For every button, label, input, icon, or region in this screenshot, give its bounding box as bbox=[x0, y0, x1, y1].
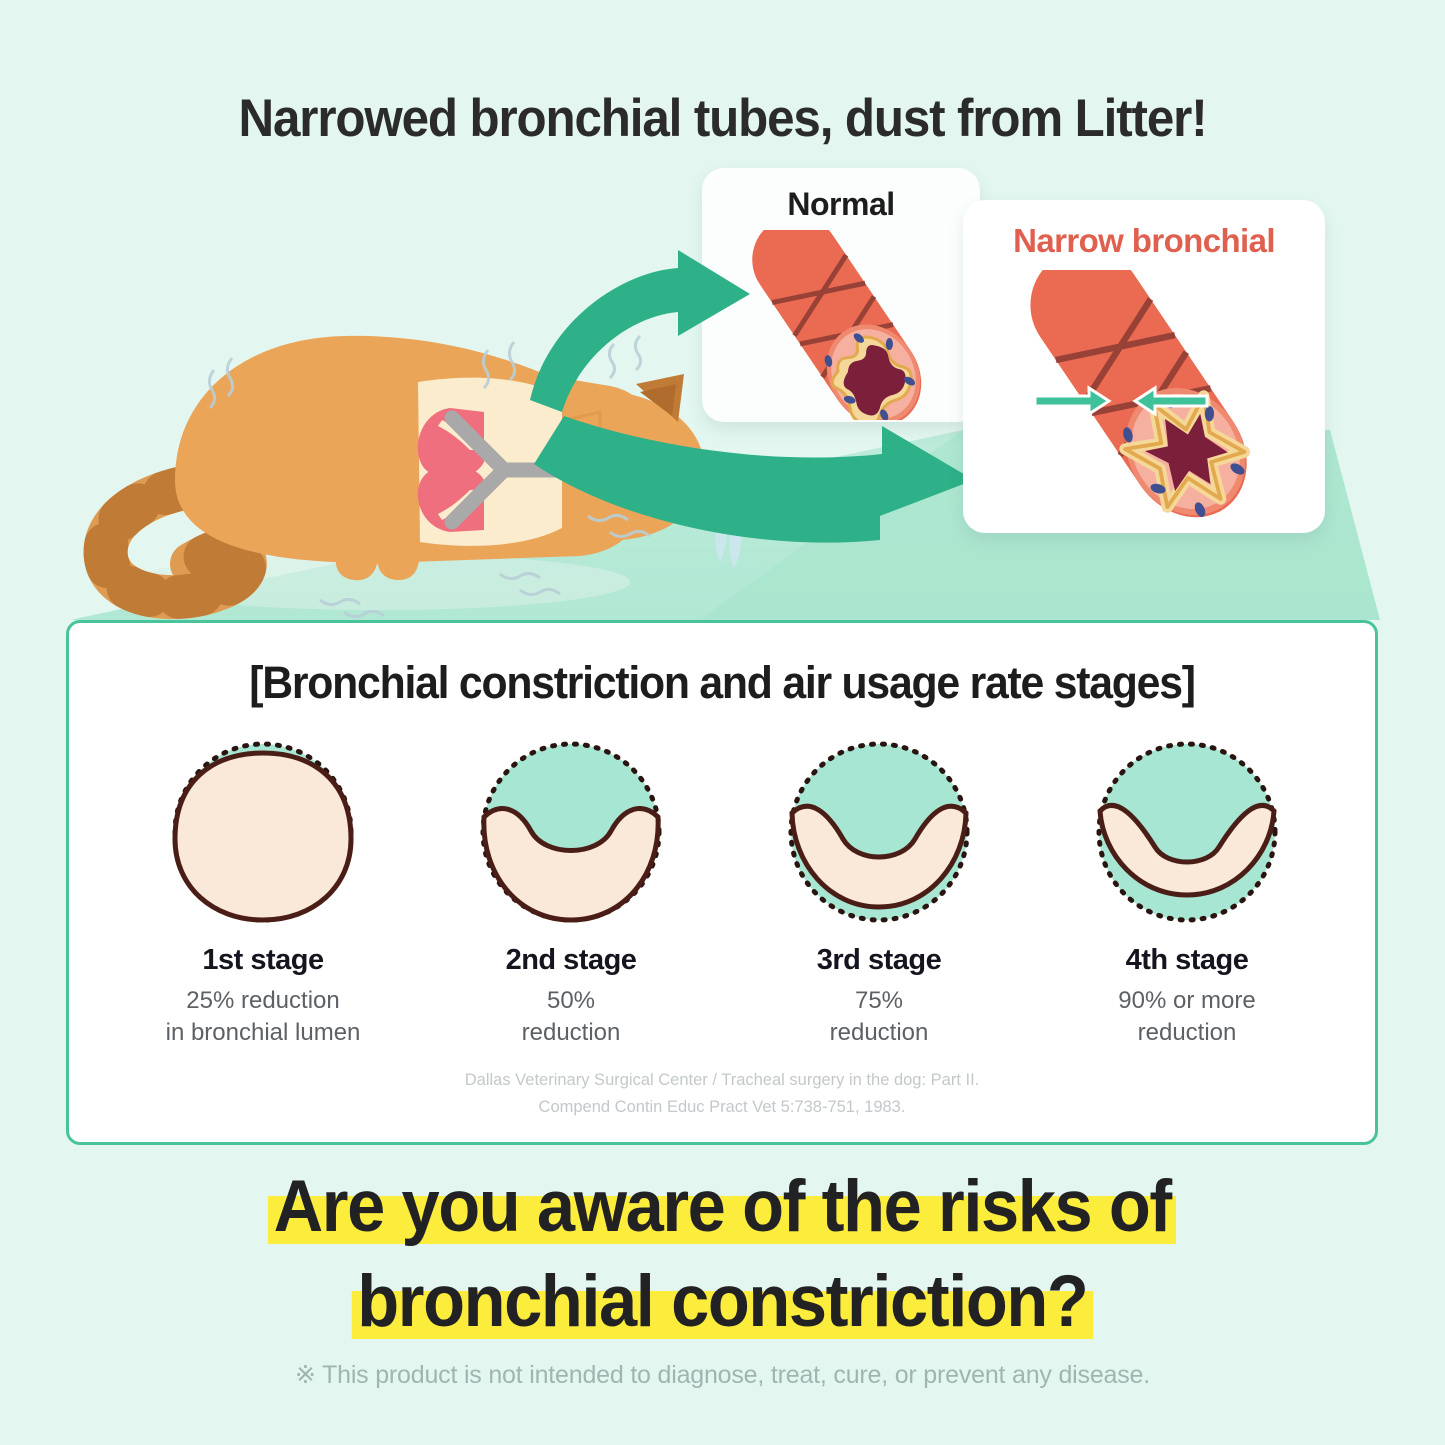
stage-1-figure-icon bbox=[163, 735, 363, 930]
stage-item: 4th stage 90% or more reduction bbox=[1033, 735, 1341, 1055]
stage-3-figure-icon bbox=[779, 735, 979, 930]
citation-text: Dallas Veterinary Surgical Center / Trac… bbox=[69, 1067, 1375, 1120]
narrow-bronchial-card: Narrow bronchial bbox=[963, 200, 1325, 533]
narrow-bronchial-icon bbox=[963, 270, 1325, 532]
question-line-2: bronchial constriction? bbox=[352, 1263, 1093, 1342]
stage-desc: 75% reduction bbox=[830, 985, 929, 1049]
stage-4-figure-icon bbox=[1087, 735, 1287, 930]
disclaimer-text: ※ This product is not intended to diagno… bbox=[0, 1360, 1445, 1390]
normal-card-title: Normal bbox=[702, 186, 980, 223]
stages-row: 1st stage 25% reduction in bronchial lum… bbox=[109, 735, 1341, 1055]
narrow-card-title: Narrow bronchial bbox=[963, 222, 1325, 260]
stages-panel: [Bronchial constriction and air usage ra… bbox=[66, 620, 1378, 1145]
stages-panel-title: [Bronchial constriction and air usage ra… bbox=[102, 657, 1343, 709]
stage-desc: 90% or more reduction bbox=[1118, 985, 1255, 1049]
stage-desc: 50% reduction bbox=[522, 985, 621, 1049]
stage-item: 3rd stage 75% reduction bbox=[725, 735, 1033, 1055]
question-line-2-wrap: bronchial constriction? bbox=[0, 1263, 1445, 1342]
page-title: Narrowed bronchial tubes, dust from Litt… bbox=[51, 88, 1395, 149]
arrow-to-narrow-icon bbox=[530, 400, 1030, 570]
stage-name: 1st stage bbox=[202, 944, 323, 977]
stage-item: 1st stage 25% reduction in bronchial lum… bbox=[109, 735, 417, 1055]
stage-name: 3rd stage bbox=[817, 944, 941, 977]
stage-2-figure-icon bbox=[471, 735, 671, 930]
stage-name: 4th stage bbox=[1126, 944, 1249, 977]
stage-desc: 25% reduction in bronchial lumen bbox=[166, 985, 361, 1049]
closing-question: Are you aware of the risks of bronchial … bbox=[0, 1168, 1445, 1342]
question-line-1-wrap: Are you aware of the risks of bbox=[0, 1168, 1445, 1247]
stage-item: 2nd stage 50% reduction bbox=[417, 735, 725, 1055]
infographic-root: Narrowed bronchial tubes, dust from Litt… bbox=[0, 0, 1445, 1445]
stage-name: 2nd stage bbox=[506, 944, 637, 977]
question-line-1: Are you aware of the risks of bbox=[268, 1168, 1176, 1247]
